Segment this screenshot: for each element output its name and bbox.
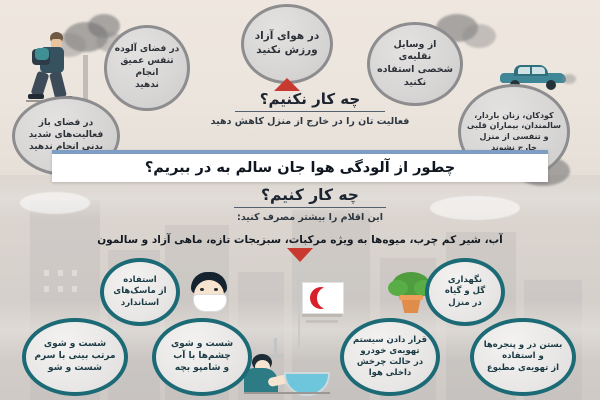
building-window — [58, 270, 63, 276]
bubble-text: کودکان، زنان باردار، سالمندان، بیماران ق… — [461, 111, 567, 153]
donts-title: چه کار نکنیم؟ — [150, 90, 470, 108]
divider — [235, 111, 385, 112]
washing-person-icon — [244, 338, 330, 396]
infographic-canvas: در فضای آلوده تنفس عمیق انجام ندهید در ه… — [0, 0, 600, 400]
bubble-text: شست و شوی چشم‌ها با آب و شامپو بچه — [165, 339, 239, 375]
bubble-text: در هوای آزاد ورزش نکنید — [249, 30, 325, 58]
food-list-line: آب، شیر کم چرب، میوه‌ها به ویژه مرکبات، … — [20, 228, 580, 247]
bubble-text: نگهداری گل و گیاه در منزل — [439, 275, 491, 309]
dos-heading-block: چه کار کنیم؟ این اقلام را بیشتر مصرف کنی… — [140, 186, 480, 223]
bubble-text: استفاده از ماسک‌های استاندارد — [107, 275, 172, 309]
bubble-standard-mask[interactable]: استفاده از ماسک‌های استاندارد — [100, 258, 180, 326]
building-window — [72, 270, 77, 276]
bubble-text: شست و شوی مرتب بینی با سرم شست و شو — [28, 339, 121, 375]
red-crescent-icon — [288, 262, 346, 348]
arrow-down-icon — [287, 248, 313, 262]
headline-text: چطور از آلودگی هوا جان سالم به در ببریم؟ — [145, 160, 455, 176]
bubble-wash-nose[interactable]: شست و شوی مرتب بینی با سرم شست و شو — [22, 318, 128, 396]
building-window — [44, 286, 49, 292]
factory-smoke-icon — [462, 24, 496, 48]
bubble-outdoor-sport[interactable]: در هوای آزاد ورزش نکنید — [241, 4, 333, 84]
building-window — [72, 286, 77, 292]
bubble-wash-eyes[interactable]: شست و شوی چشم‌ها با آب و شامپو بچه — [152, 318, 252, 396]
bubble-keep-plants[interactable]: نگهداری گل و گیاه در منزل — [425, 258, 505, 326]
walking-man-icon — [26, 30, 82, 102]
food-list-text: آب، شیر کم چرب، میوه‌ها به ویژه مرکبات، … — [97, 234, 503, 246]
donts-heading-block: چه کار نکنیم؟ فعالیت تان را در خارج از م… — [150, 90, 470, 127]
masked-face-icon — [186, 272, 232, 314]
divider — [234, 207, 386, 208]
bubble-car-ventilation[interactable]: قرار دادن سیستم تهویه‌ی خودرو در حالت چر… — [340, 318, 440, 396]
main-headline-banner: چطور از آلودگی هوا جان سالم به در ببریم؟ — [52, 150, 548, 182]
bubble-close-windows[interactable]: بستن در و پنجره‌ها و استفاده از تهویه‌ی … — [470, 318, 576, 396]
cloud-shape — [20, 192, 90, 214]
bubble-text: از وسایل نقلیه‌ی شخصی استفاده نکنید — [370, 39, 460, 89]
donts-subtitle: فعالیت تان را در خارج از منزل کاهش دهید — [150, 116, 470, 127]
bubble-text: در فضای باز فعالیت‌های شدید بدنی انجام ن… — [23, 118, 110, 154]
building-window — [44, 270, 49, 276]
bubble-text: قرار دادن سیستم تهویه‌ی خودرو در حالت چر… — [347, 335, 433, 380]
dos-title: چه کار کنیم؟ — [140, 186, 480, 204]
bubble-text: بستن در و پنجره‌ها و استفاده از تهویه‌ی … — [478, 340, 569, 374]
bubble-text: در فضای آلوده تنفس عمیق انجام ندهید — [107, 44, 187, 92]
dos-subtitle: این اقلام را بیشتر مصرف کنید: — [140, 212, 480, 223]
building-window — [58, 286, 63, 292]
